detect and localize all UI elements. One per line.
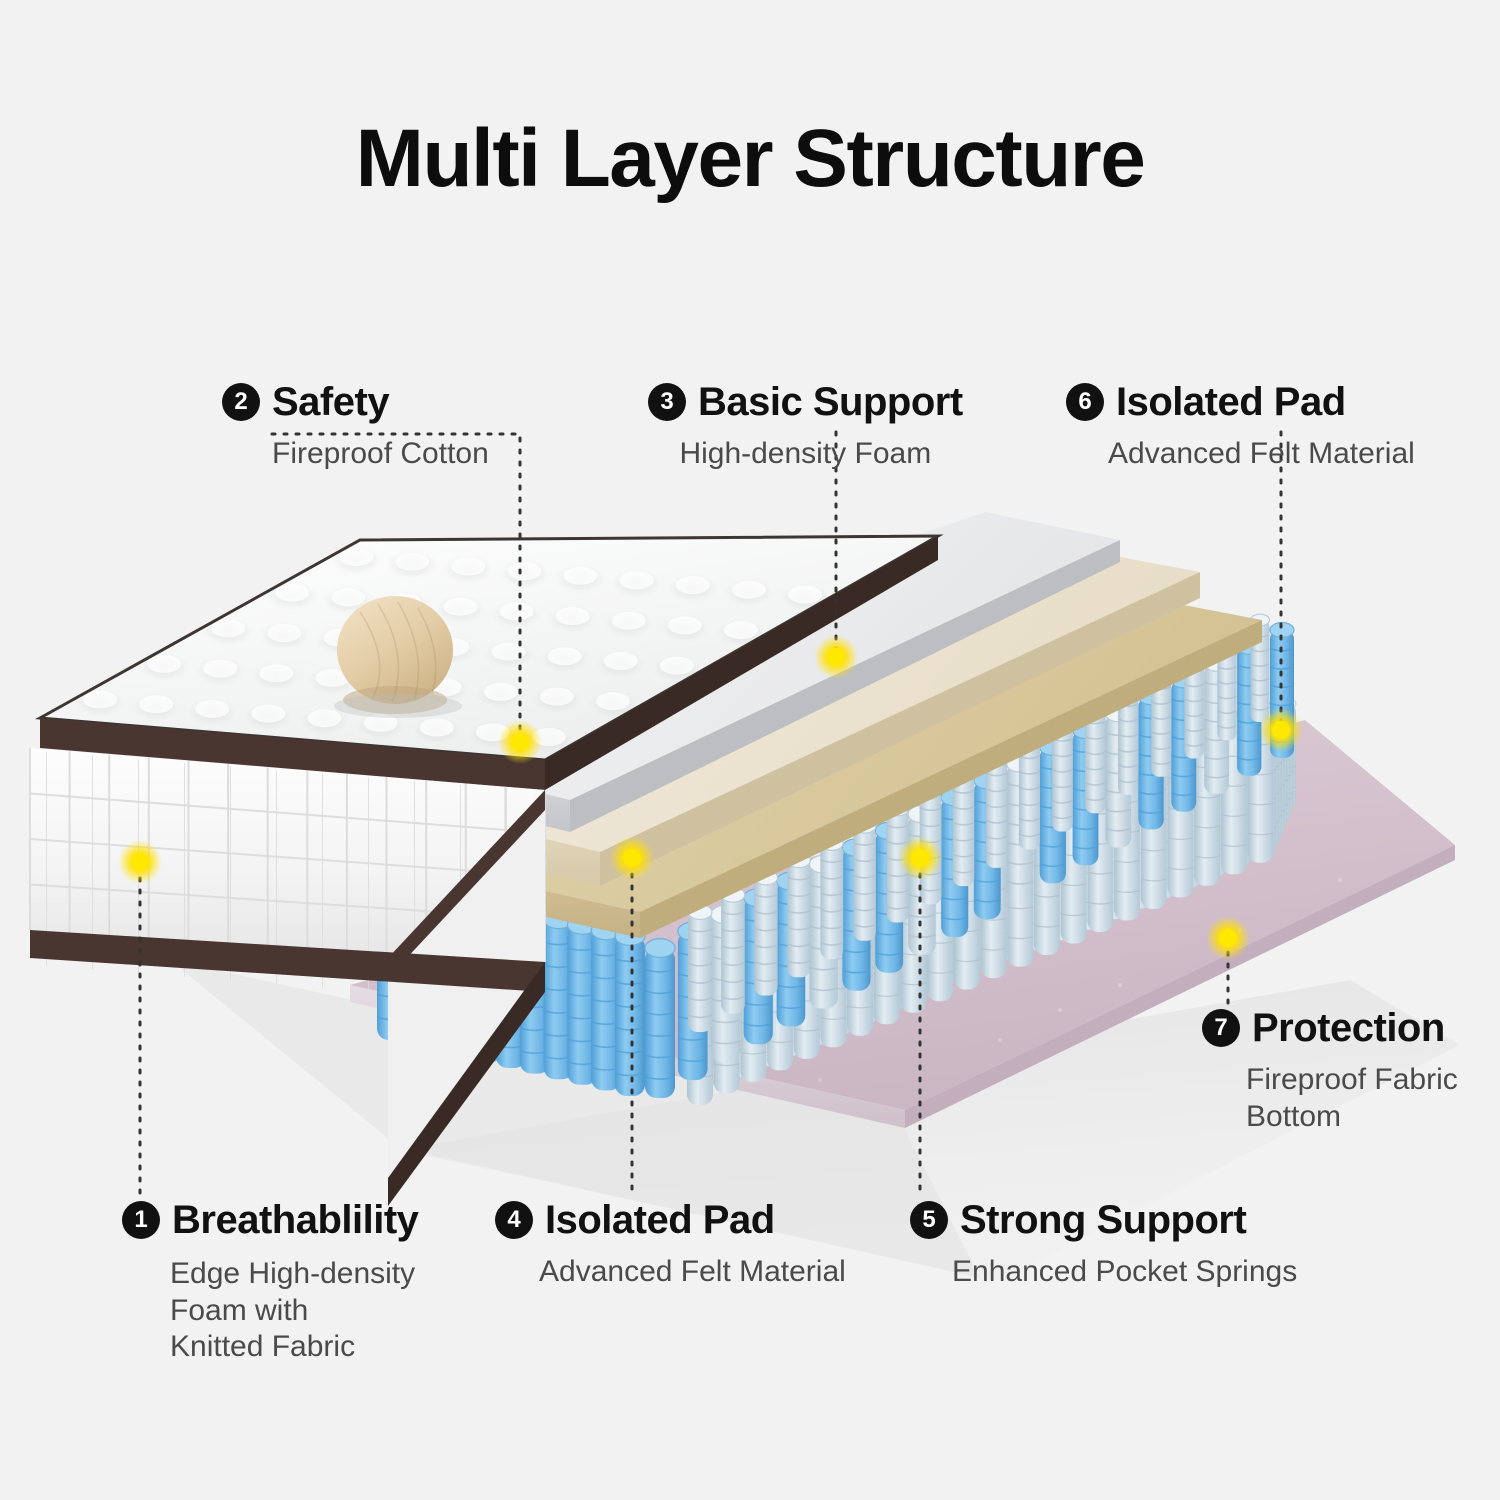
marker-6: [1259, 708, 1303, 752]
marker-7: [1206, 916, 1250, 960]
callout-3-title: Basic Support: [698, 382, 963, 422]
callout-5-subtitle: Enhanced Pocket Springs: [952, 1254, 1297, 1291]
callout-2-title: Safety: [272, 382, 389, 422]
badge-number-5: 5: [910, 1201, 948, 1239]
callout-5-head: 5 Strong Support: [910, 1200, 1297, 1240]
callout-3-head: 3 Basic Support: [648, 382, 963, 422]
badge-number-6: 6: [1066, 383, 1104, 421]
callout-7-title: Protection: [1252, 1008, 1445, 1048]
callout-5-title: Strong Support: [960, 1200, 1246, 1240]
callout-4: 4 Isolated Pad Advanced Felt Material: [495, 1200, 846, 1291]
callout-1: 1 Breathablility Edge High-density Foam …: [122, 1200, 418, 1366]
marker-3: [814, 635, 858, 679]
callout-6-subtitle: Advanced Felt Material: [1108, 436, 1415, 473]
callout-2-subtitle: Fireproof Cotton: [272, 436, 489, 473]
badge-number-2: 2: [222, 383, 260, 421]
callout-7-head: 7 Protection: [1202, 1008, 1458, 1048]
callout-4-title: Isolated Pad: [545, 1200, 775, 1240]
callout-6: 6 Isolated Pad Advanced Felt Material: [1066, 382, 1415, 473]
badge-number-4: 4: [495, 1201, 533, 1239]
callout-7-subtitle: Fireproof Fabric Bottom: [1246, 1062, 1458, 1135]
callout-1-head: 1 Breathablility: [122, 1200, 418, 1240]
marker-5: [898, 836, 942, 880]
callout-1-title: Breathablility: [172, 1200, 418, 1240]
callout-2: 2 Safety Fireproof Cotton: [222, 382, 489, 473]
marker-1: [118, 840, 162, 884]
badge-number-3: 3: [648, 383, 686, 421]
callout-6-title: Isolated Pad: [1116, 382, 1346, 422]
badge-number-1: 1: [122, 1201, 160, 1239]
marker-2: [498, 720, 542, 764]
callout-6-head: 6 Isolated Pad: [1066, 382, 1415, 422]
callout-3-subtitle: High-density Foam: [648, 436, 963, 473]
badge-number-7: 7: [1202, 1009, 1240, 1047]
callout-1-subtitle: Edge High-density Foam with Knitted Fabr…: [170, 1256, 418, 1366]
callout-4-subtitle: Advanced Felt Material: [539, 1254, 846, 1291]
callout-5: 5 Strong Support Enhanced Pocket Springs: [910, 1200, 1297, 1291]
callout-7: 7 Protection Fireproof Fabric Bottom: [1202, 1008, 1458, 1135]
infographic-root: Multi Layer Structure: [0, 0, 1500, 1500]
marker-4: [610, 836, 654, 880]
callout-4-head: 4 Isolated Pad: [495, 1200, 846, 1240]
callout-3: 3 Basic Support High-density Foam: [648, 382, 963, 473]
callout-2-head: 2 Safety: [222, 382, 489, 422]
